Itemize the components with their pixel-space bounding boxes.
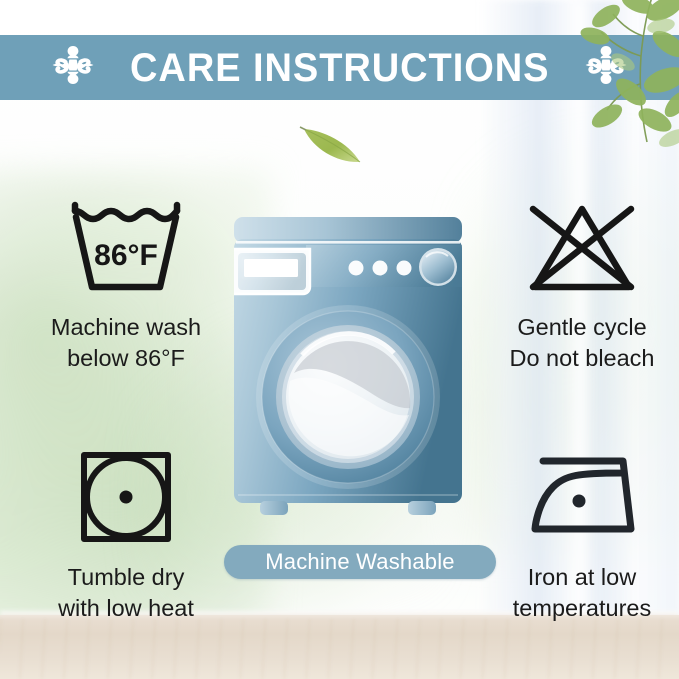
heat-level-dot — [573, 495, 586, 508]
iron-low-heat-icon — [517, 438, 647, 556]
fleur-de-lis-icon — [45, 42, 101, 93]
machine-feet — [260, 501, 436, 515]
care-label-tumble-dry: Tumble dry with low heat — [58, 562, 194, 624]
care-instructions-infographic: CARE INSTRUCTIONS — [0, 0, 679, 679]
wash-temperature-value: 86°F — [94, 239, 158, 272]
machine-door — [256, 305, 440, 489]
washing-machine-illustration — [228, 205, 468, 535]
care-item-do-not-bleach: Gentle cycle Do not bleach — [472, 188, 679, 374]
badge-label: Machine Washable — [265, 551, 454, 573]
floating-leaf-icon — [296, 120, 368, 168]
detergent-drawer — [234, 249, 310, 294]
header-banner: CARE INSTRUCTIONS — [0, 35, 679, 100]
machine-washable-badge: Machine Washable — [224, 545, 496, 579]
machine-indicator-lights — [349, 261, 412, 276]
triangle-crossed-out-icon — [517, 188, 647, 306]
care-item-iron-low: Iron at low temperatures — [472, 438, 679, 624]
care-item-tumble-dry: Tumble dry with low heat — [16, 438, 236, 624]
care-label-iron-low: Iron at low temperatures — [513, 562, 651, 624]
care-label-do-not-bleach: Gentle cycle Do not bleach — [509, 312, 654, 374]
wood-grain-texture — [0, 619, 679, 679]
wash-tub-icon: 86°F — [61, 188, 191, 306]
fleur-de-lis-icon — [578, 42, 634, 93]
care-label-machine-wash: Machine wash below 86°F — [51, 312, 201, 374]
page-title: CARE INSTRUCTIONS — [130, 48, 549, 88]
care-item-machine-wash: 86°F Machine wash below 86°F — [16, 188, 236, 374]
tumble-dry-low-icon — [72, 438, 180, 556]
machine-control-knob — [419, 248, 457, 286]
heat-level-dot — [120, 491, 133, 504]
